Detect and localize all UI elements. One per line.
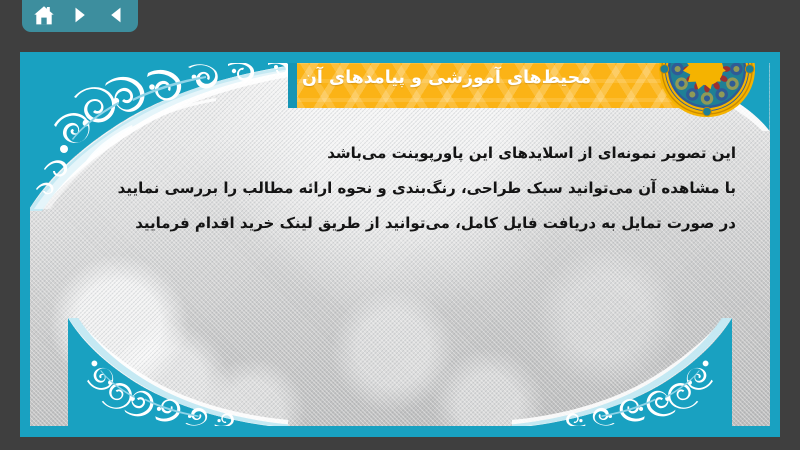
slide-canvas: این تصویر نمونه‌ای از اسلایدهای این پاور… [20,52,780,437]
slide-navigation-bar [22,0,138,32]
left-triangle-icon [106,5,126,25]
right-triangle-icon [70,5,90,25]
arabesque-ornament-bottom-left [30,318,328,426]
slide-body-text: این تصویر نمونه‌ای از اسلایدهای این پاور… [30,141,770,245]
slide-title-banner: بررسی عوامل تضعیف عزت‌نفس در محیط‌های آم… [288,63,720,108]
islamic-medallion-ornament [658,63,756,118]
slide-viewer: این تصویر نمونه‌ای از اسلایدهای این پاور… [0,0,800,450]
home-button[interactable] [31,3,57,27]
next-slide-button[interactable] [67,3,93,27]
arabesque-ornament-bottom-right [472,318,770,426]
body-line-1: این تصویر نمونه‌ای از اسلایدهای این پاور… [64,141,736,167]
slide-title: بررسی عوامل تضعیف عزت‌نفس در محیط‌های آم… [288,63,720,108]
body-line-3: در صورت تمایل به دریافت فایل کامل، می‌تو… [64,211,736,237]
title-line-2: محیط‌های آموزشی و پیامدهای آن [302,65,591,92]
body-line-2: با مشاهده آن می‌توانید سبک طراحی، رنگ‌بن… [64,176,736,202]
slide-content-panel: این تصویر نمونه‌ای از اسلایدهای این پاور… [30,63,770,426]
home-icon [33,5,55,26]
previous-slide-button[interactable] [103,3,129,27]
